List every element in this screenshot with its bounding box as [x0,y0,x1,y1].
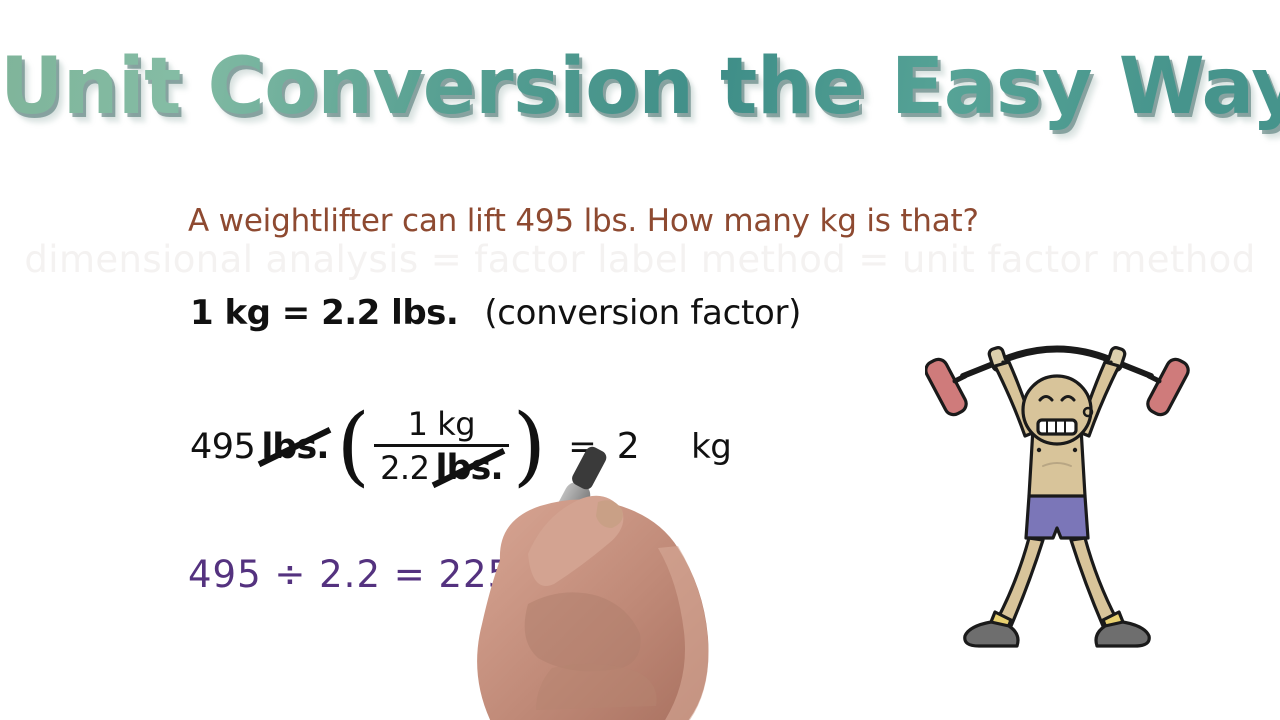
page-title: Unit Conversion the Easy Way [0,42,1280,132]
question-text: A weightlifter can lift 495 lbs. How man… [188,203,979,239]
whiteboard-slide: Unit Conversion the Easy Way dimensional… [0,0,1280,720]
watermark-text: dimensional analysis = factor label meth… [0,238,1280,281]
hand-shape [477,499,708,720]
conversion-factor-equation: 1 kg = 2.2 lbs. [190,293,458,333]
fraction-numerator: 1 kg [402,404,481,444]
weightlifter-illustration [925,332,1190,650]
equation-result: 2 [617,426,639,467]
conversion-fraction: 1 kg 2.2lbs. [372,404,511,489]
equation-result-unit: kg [691,427,731,467]
equation-quantity: 495 [190,427,255,467]
conversion-factor-line: 1 kg = 2.2 lbs.(conversion factor) [190,293,801,333]
cancelled-unit-lbs-bottom: lbs. [435,448,502,488]
denominator-value: 2.2 [380,449,429,487]
open-paren: ( [337,415,371,479]
worked-equation: 495 lbs. ( 1 kg 2.2lbs. ) = 2 kg [190,404,731,489]
equals-sign: = [568,427,597,467]
arithmetic-line: 495 ÷ 2.2 = 225 [188,553,512,596]
conversion-factor-note: (conversion factor) [484,293,801,333]
fraction-denominator: 2.2lbs. [374,447,509,489]
cancelled-unit-lbs-top: lbs. [261,427,328,467]
close-paren: ) [513,415,547,479]
